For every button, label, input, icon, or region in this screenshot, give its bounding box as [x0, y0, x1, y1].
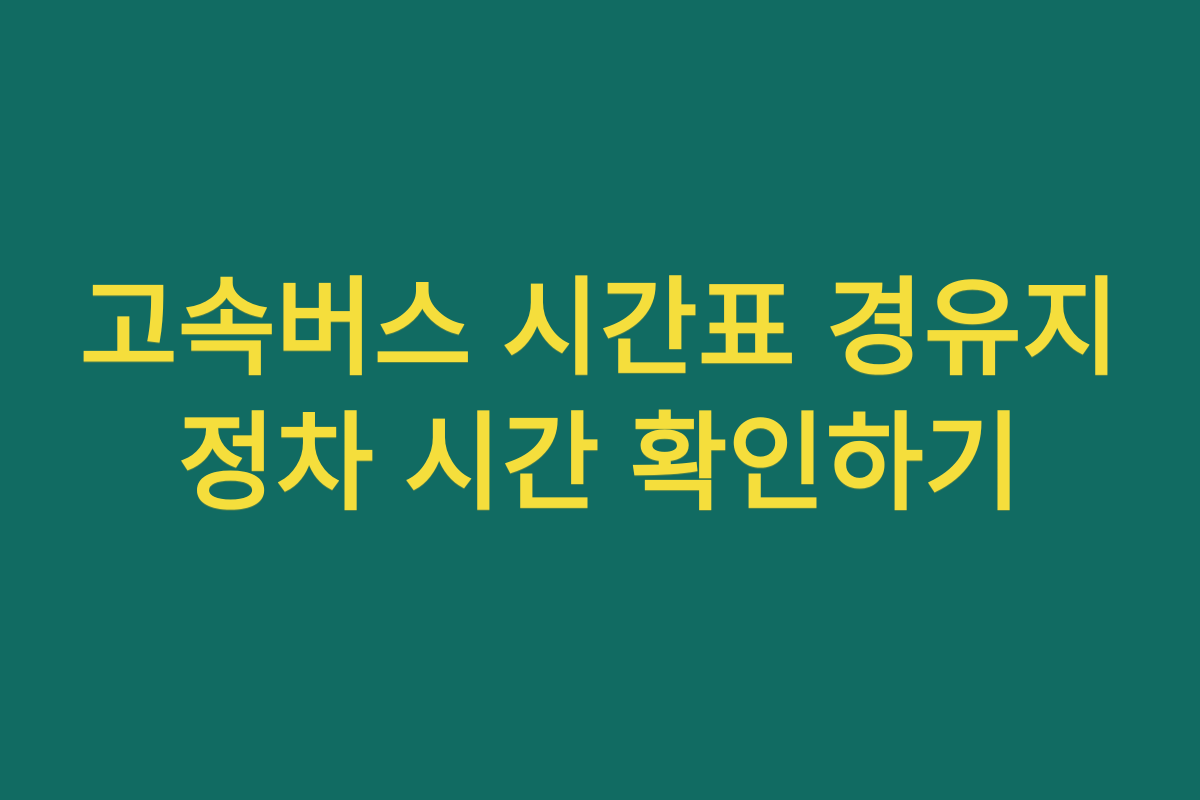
headline-line-2: 정차 시간 확인하기 [40, 397, 1160, 532]
headline-line-1: 고속버스 시간표 경유지 [40, 262, 1160, 397]
headline-block: 고속버스 시간표 경유지 정차 시간 확인하기 [0, 262, 1200, 532]
banner-canvas: 고속버스 시간표 경유지 정차 시간 확인하기 [0, 0, 1200, 800]
